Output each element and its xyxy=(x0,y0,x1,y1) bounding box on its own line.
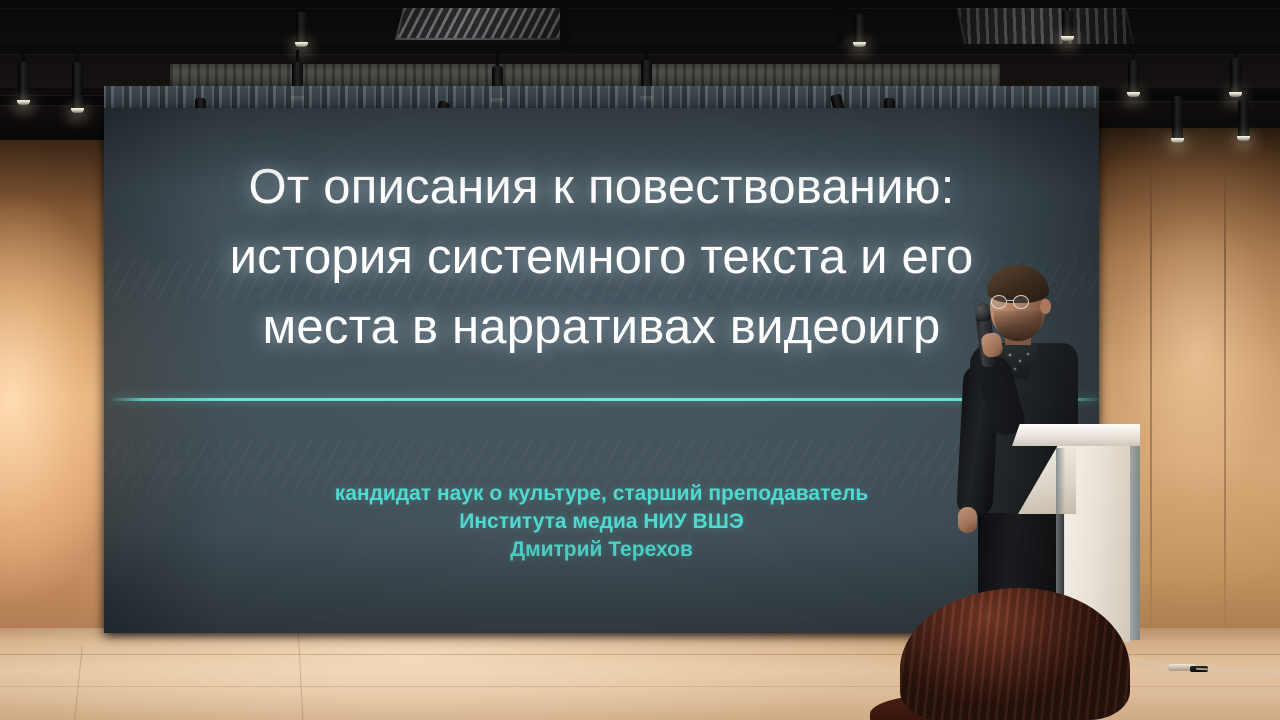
lectern-side-panel xyxy=(1130,442,1140,640)
ceiling-hanger xyxy=(836,0,844,46)
left-wall xyxy=(0,140,112,640)
glasses-icon xyxy=(991,295,1035,309)
audience-member xyxy=(900,588,1130,720)
acoustic-panel xyxy=(104,86,1099,108)
lectern-top-surface xyxy=(1012,424,1140,446)
ceiling-hanger xyxy=(560,0,570,52)
ceiling-beam xyxy=(0,44,1280,54)
lectern-slanted-top xyxy=(1018,442,1076,514)
floor-tile-joint xyxy=(298,628,304,720)
presentation-photo-scene: От описания к повествованию: история сис… xyxy=(0,0,1280,720)
audience-member-hair xyxy=(900,588,1130,720)
presenter-beard xyxy=(994,311,1042,341)
ceiling-beam xyxy=(0,0,1280,8)
wall-panel-seam xyxy=(1150,120,1152,640)
presenter-hand xyxy=(958,507,977,533)
wall-panel-seam xyxy=(1224,120,1226,640)
floor-cable xyxy=(1196,668,1280,674)
floor-tile-joint xyxy=(74,646,83,720)
